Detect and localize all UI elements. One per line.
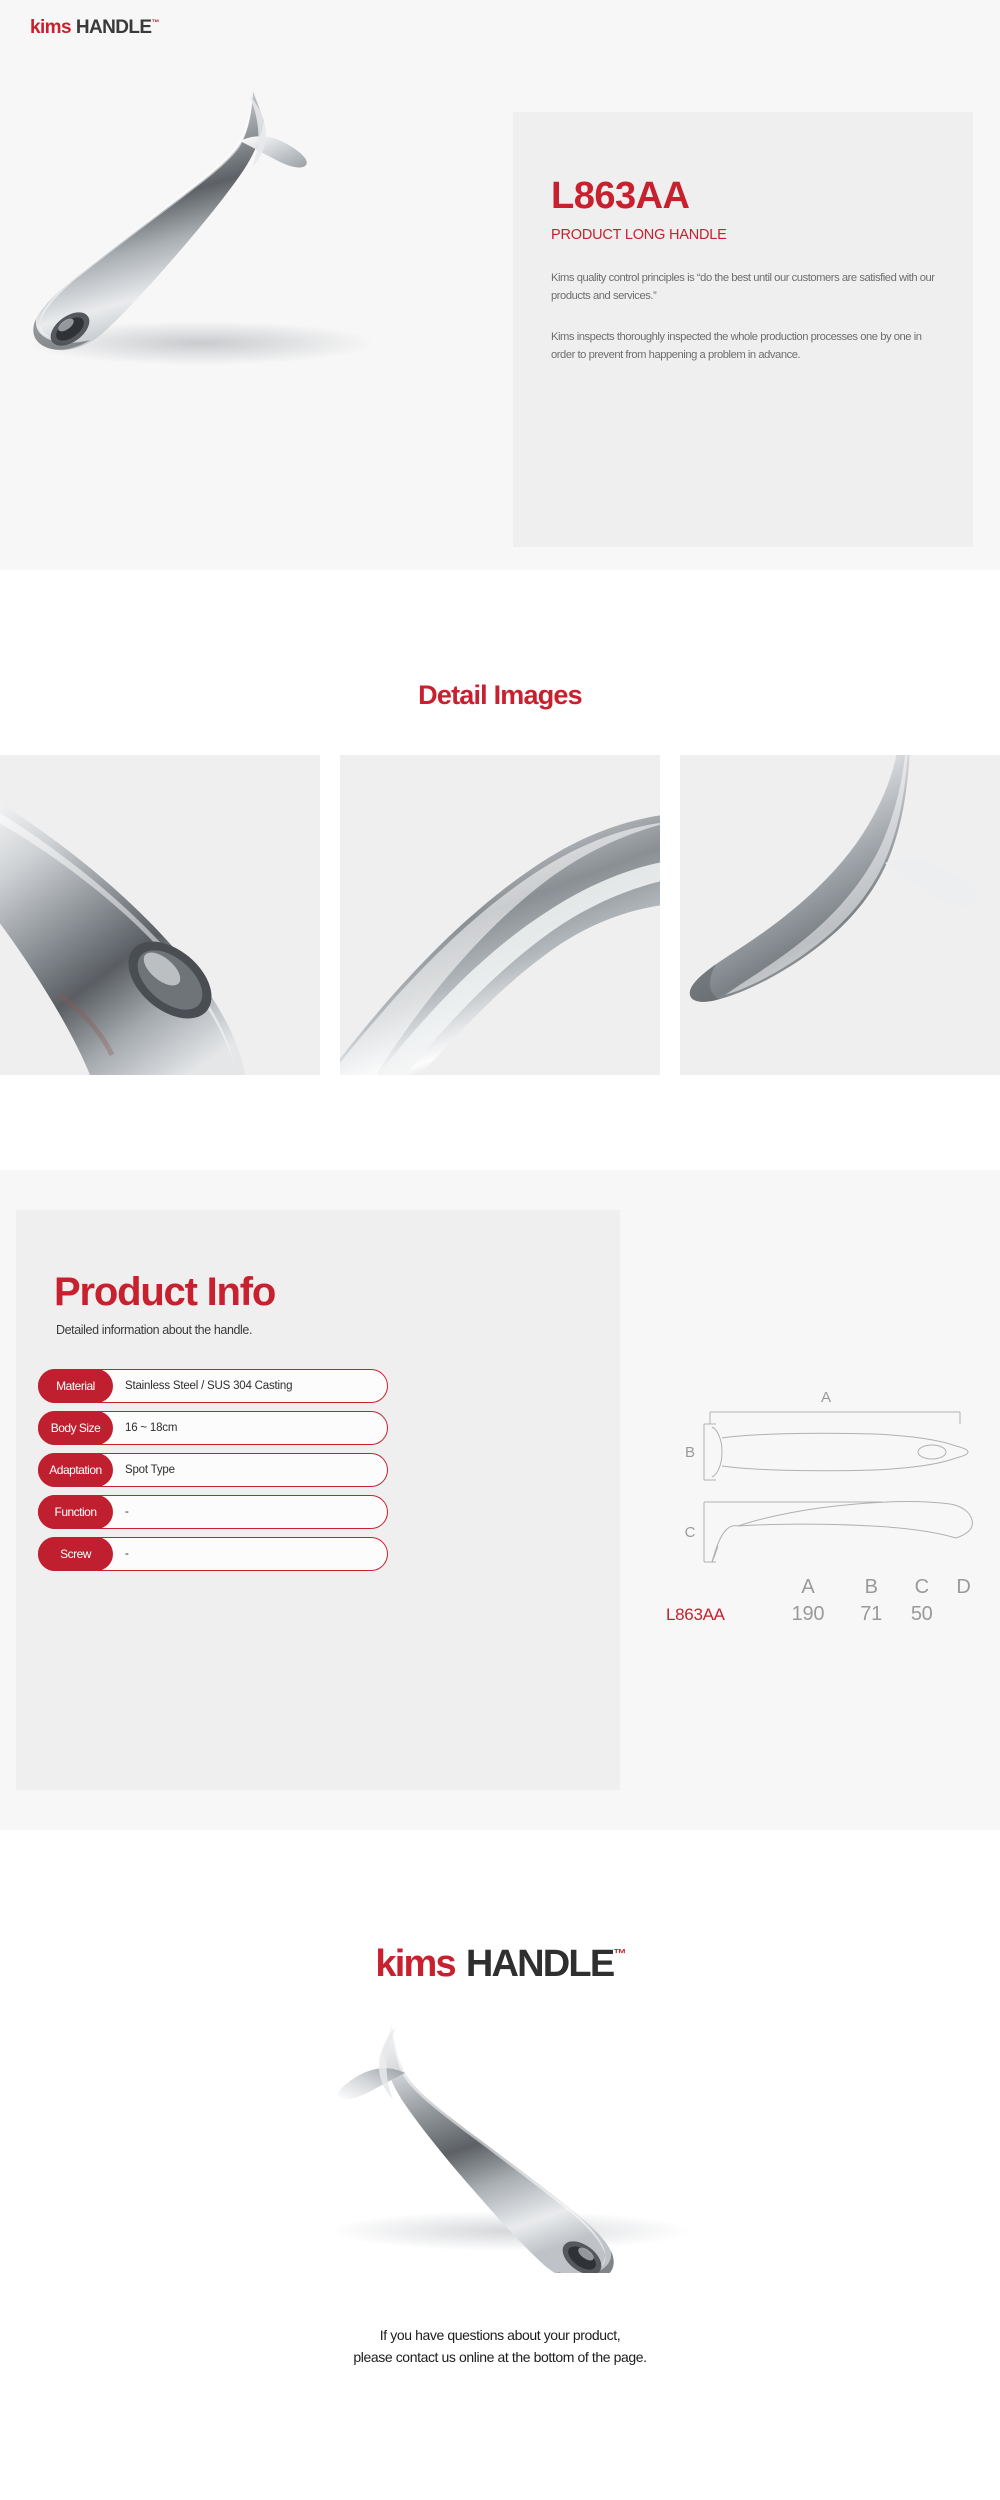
spec-row-body-size: Body Size 16 ~ 18cm (38, 1411, 388, 1445)
footer-logo-kims-text: kims (375, 1945, 454, 1983)
footer-product-photo (260, 2013, 740, 2273)
dimension-table-header-row: A B C D (660, 1574, 980, 1601)
spec-value-body-size: 16 ~ 18cm (125, 1422, 177, 1434)
dimension-block: A B C A B C D L863AA 190 71 (660, 1380, 980, 1628)
dimension-header-c: C (896, 1574, 947, 1601)
dimension-table-row: L863AA 190 71 50 (660, 1601, 980, 1628)
dimension-table: A B C D L863AA 190 71 50 (660, 1574, 980, 1628)
spec-value-material: Stainless Steel / SUS 304 Casting (125, 1380, 292, 1392)
detail-image-3[interactable] (680, 755, 1000, 1075)
drawing-label-b: B (685, 1444, 695, 1461)
spec-label-adaptation: Adaptation (38, 1453, 113, 1487)
spec-value-screw: - (125, 1548, 129, 1560)
spec-value-function: - (125, 1506, 129, 1518)
dimension-value-c: 50 (896, 1601, 947, 1628)
spec-label-body-size: Body Size (38, 1411, 113, 1445)
drawing-label-a: A (821, 1389, 831, 1406)
quality-paragraph-2: Kims inspects thoroughly inspected the w… (551, 328, 935, 365)
technical-drawing: A B C (660, 1380, 980, 1570)
product-subtitle: PRODUCT LONG HANDLE (551, 227, 935, 243)
brand-logo-handle-text: HANDLE (76, 18, 152, 37)
footer-section: kims HANDLE ™ (0, 1830, 1000, 2500)
spec-row-screw: Screw - (38, 1537, 388, 1571)
product-info-card: Product Info Detailed information about … (16, 1210, 620, 1790)
dimension-value-a: 190 (770, 1601, 846, 1628)
detail-images-title: Detail Images (0, 570, 1000, 711)
brand-logo-kims-text: kims (30, 18, 71, 37)
dimension-header-d: D (947, 1574, 980, 1601)
hero-section: kims HANDLE ™ (0, 0, 1000, 570)
spec-label-screw: Screw (38, 1537, 113, 1571)
spec-label-function: Function (38, 1495, 113, 1529)
product-info-heading: Product Info (16, 1210, 620, 1315)
dimension-value-b: 71 (846, 1601, 897, 1628)
spec-row-material: Material Stainless Steel / SUS 304 Casti… (38, 1369, 388, 1403)
footer-trademark-icon: ™ (613, 1947, 624, 1960)
spec-label-material: Material (38, 1369, 113, 1403)
dimension-header-b: B (846, 1574, 897, 1601)
hero-product-photo (0, 85, 520, 405)
contact-note-line-1: If you have questions about your product… (0, 2325, 1000, 2347)
spec-row-adaptation: Adaptation Spot Type (38, 1453, 388, 1487)
spec-list: Material Stainless Steel / SUS 304 Casti… (38, 1369, 388, 1571)
detail-image-1[interactable] (0, 755, 320, 1075)
drawing-label-c: C (685, 1524, 696, 1541)
footer-logo-handle-text: HANDLE (466, 1945, 614, 1983)
detail-images-grid (0, 755, 1000, 1075)
product-info-subheading: Detailed information about the handle. (16, 1315, 620, 1337)
quality-paragraph-1: Kims quality control principles is “do t… (551, 269, 935, 306)
product-info-panel: L863AA PRODUCT LONG HANDLE Kims quality … (513, 112, 973, 547)
dimension-header-a: A (770, 1574, 846, 1601)
contact-note: If you have questions about your product… (0, 2325, 1000, 2368)
detail-image-2[interactable] (340, 755, 660, 1075)
brand-logo-header[interactable]: kims HANDLE ™ (30, 18, 159, 37)
product-info-section: Product Info Detailed information about … (0, 1170, 1000, 1830)
dimension-header-blank (660, 1574, 770, 1601)
dimension-value-d (947, 1601, 980, 1628)
dimension-row-code: L863AA (660, 1601, 770, 1628)
contact-note-line-2: please contact us online at the bottom o… (0, 2347, 1000, 2369)
detail-images-section: Detail Images (0, 570, 1000, 1155)
spec-value-adaptation: Spot Type (125, 1464, 175, 1476)
trademark-icon: ™ (152, 19, 159, 27)
product-code-heading: L863AA (551, 177, 935, 217)
spec-row-function: Function - (38, 1495, 388, 1529)
brand-logo-footer[interactable]: kims HANDLE ™ (0, 1830, 1000, 1983)
